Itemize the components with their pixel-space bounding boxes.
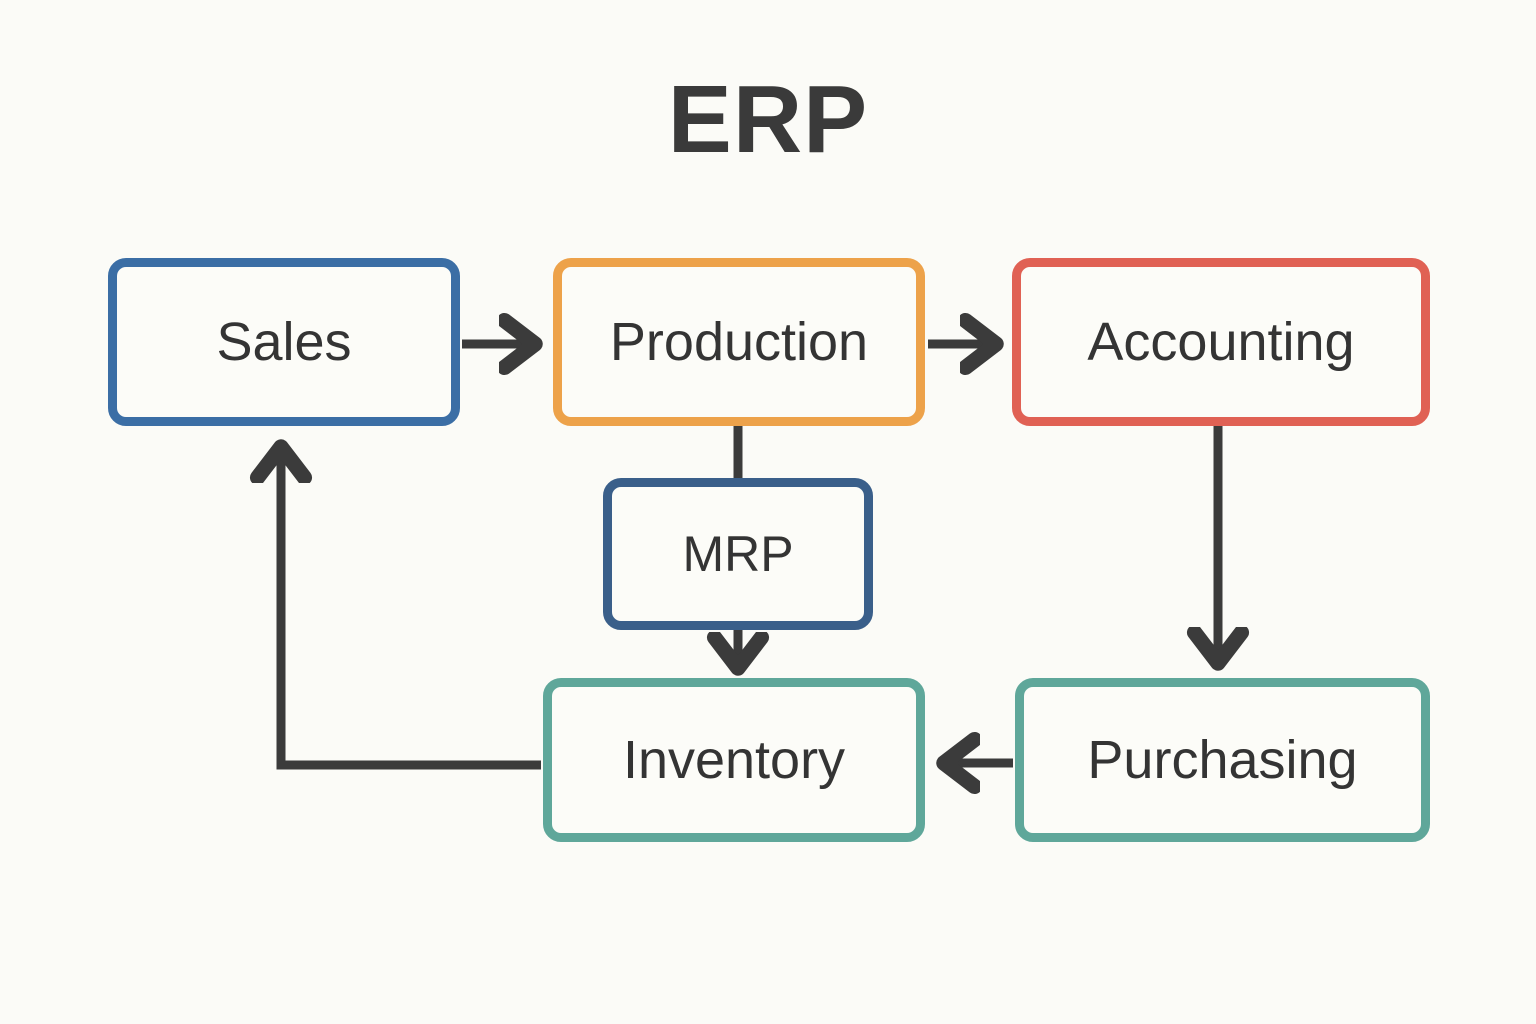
edge-inventory-to-sales	[281, 455, 541, 765]
node-inventory[interactable]: Inventory	[543, 678, 925, 842]
node-accounting-label: Accounting	[1087, 315, 1354, 369]
node-mrp-label: MRP	[682, 529, 793, 579]
page-title: ERP	[0, 72, 1536, 168]
node-mrp[interactable]: MRP	[603, 478, 873, 630]
erp-diagram: ERP Sales Production Accounting MRP	[0, 0, 1536, 1024]
node-production-label: Production	[610, 315, 868, 369]
node-sales-label: Sales	[216, 315, 351, 369]
node-inventory-label: Inventory	[623, 733, 845, 787]
node-purchasing-label: Purchasing	[1087, 733, 1357, 787]
node-production[interactable]: Production	[553, 258, 925, 426]
node-purchasing[interactable]: Purchasing	[1015, 678, 1430, 842]
node-accounting[interactable]: Accounting	[1012, 258, 1430, 426]
node-sales[interactable]: Sales	[108, 258, 460, 426]
